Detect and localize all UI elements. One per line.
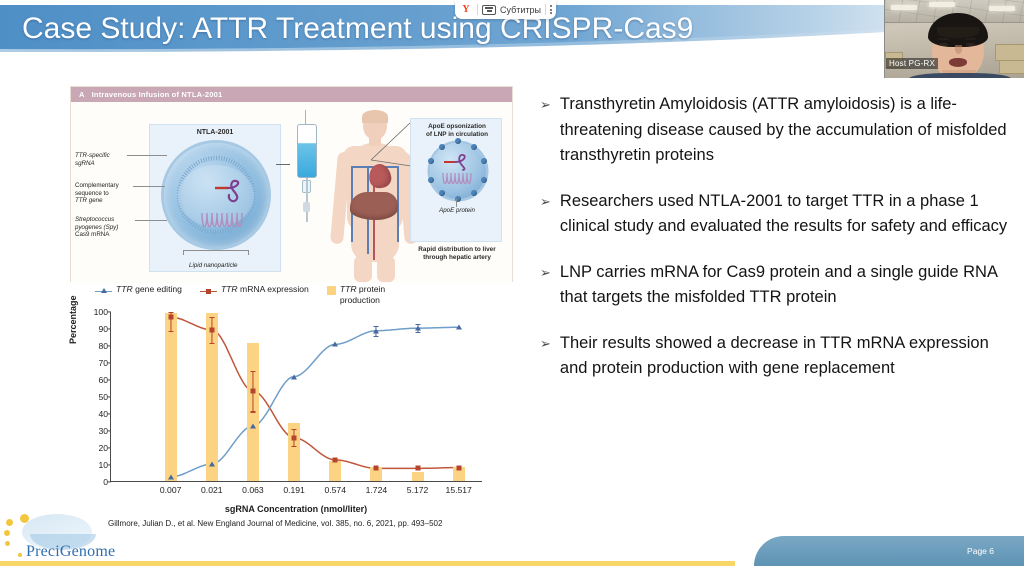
data-point <box>168 474 174 479</box>
apoe-protein-dot <box>481 158 487 164</box>
y-axis-tick <box>108 413 112 414</box>
eyebrow <box>938 38 949 40</box>
page-title: Case Study: ATTR Treatment using CRISPR-… <box>22 11 862 47</box>
bracket-tick <box>183 250 184 255</box>
label-cas9-mrna: Streptococcuspyogenes (Spy)Cas9 mRNA <box>75 216 137 239</box>
page-number: Page 6 <box>967 546 994 556</box>
error-bar-cap <box>415 332 420 333</box>
legend-label-mrna-expression: TTR mRNA expression <box>221 284 309 295</box>
toolbar-divider <box>545 4 546 15</box>
x-axis-tick-label: 0.574 <box>324 481 346 495</box>
x-axis-tick-label: 0.063 <box>242 481 264 495</box>
apoe-protein-dot <box>455 138 461 144</box>
error-bar-cap <box>250 371 255 372</box>
data-point <box>168 315 173 320</box>
x-axis-tick-label: 1.724 <box>366 481 388 495</box>
arrow-bullet-icon: ➢ <box>540 189 551 214</box>
data-point <box>456 325 462 330</box>
legend-label-gene-editing: TTR gene editing <box>116 284 182 295</box>
apoe-box-title: ApoE opsonizationof LNP in circulation <box>413 123 501 139</box>
arrow-bullet-icon: ➢ <box>540 92 551 117</box>
webcam-thumbnail[interactable]: Host PG-RX <box>884 0 1024 78</box>
logo-dot <box>5 541 10 546</box>
apoe-protein-dot <box>439 144 445 150</box>
error-bar-cap <box>374 326 379 327</box>
legend-label-protein-production: TTR proteinproduction <box>340 284 385 305</box>
x-axis-tick-label: 0.191 <box>283 481 305 495</box>
chart-x-axis-title: sgRNA Concentration (nmol/liter) <box>110 504 482 514</box>
bullet-text: Their results showed a decrease in TTR m… <box>560 331 1018 382</box>
chart-legend: TTR gene editing TTR mRNA expression TTR… <box>95 284 515 310</box>
bullet-text: Researchers used NTLA-2001 to target TTR… <box>560 189 1018 240</box>
data-point <box>373 328 379 333</box>
leader-line <box>133 186 165 187</box>
nose <box>955 45 962 54</box>
blue-line-marker-icon <box>95 286 112 296</box>
red-line-marker-icon <box>200 286 217 296</box>
apoe-protein-dot <box>439 190 445 196</box>
error-bar-cap <box>292 446 297 447</box>
legend-item-mrna-expression: TTR mRNA expression <box>200 284 309 296</box>
data-point <box>209 327 214 332</box>
leader-line <box>135 220 167 221</box>
apoe-protein-dot <box>471 144 477 150</box>
list-item: ➢ Transthyretin Amyloidosis (ATTR amyloi… <box>540 92 1018 169</box>
bullet-list: ➢ Transthyretin Amyloidosis (ATTR amyloi… <box>540 92 1018 382</box>
bullet-text: Transthyretin Amyloidosis (ATTR amyloido… <box>560 92 1018 169</box>
figure-panel-header: A Intravenous Infusion of NTLA-2001 <box>71 87 512 102</box>
data-point <box>415 326 421 331</box>
label-rapid-distribution: Rapid distribution to liverthrough hepat… <box>407 246 507 263</box>
slide-footer: Page 6 <box>0 548 1024 566</box>
yellow-square-icon <box>327 286 336 295</box>
legend-item-protein-production: TTR proteinproduction <box>327 284 385 305</box>
dose-response-chart: TTR gene editing TTR mRNA expression TTR… <box>70 282 515 532</box>
error-bar-cap <box>374 336 379 337</box>
cardboard-box <box>999 60 1024 74</box>
data-point <box>333 457 338 462</box>
error-bar-cap <box>168 312 173 313</box>
liver <box>350 192 398 220</box>
logo-dot <box>18 553 22 557</box>
error-bar-cap <box>250 411 255 412</box>
closed-caption-icon[interactable] <box>482 5 496 15</box>
logo-dot <box>20 514 29 523</box>
logo-dot <box>6 519 13 526</box>
data-point <box>291 374 297 379</box>
chart-citation: Gillmore, Julian D., et al. New England … <box>108 518 508 529</box>
subtitles-label[interactable]: Субтитры <box>500 5 541 15</box>
list-item: ➢ LNP carries mRNA for Cas9 protein and … <box>540 260 1018 311</box>
mouth <box>949 58 967 67</box>
sgrna-illustration <box>212 179 246 209</box>
label-complementary-sequence: Complementarysequence toTTR gene <box>75 182 135 205</box>
data-point <box>456 465 461 470</box>
lipid-nanoparticle-illustration <box>164 143 268 247</box>
y-axis-tick <box>108 328 112 329</box>
cardboard-box <box>995 44 1024 61</box>
lnp-title: NTLA-2001 <box>150 129 280 136</box>
apoe-protein-dot <box>428 177 434 183</box>
bullet-text: LNP carries mRNA for Cas9 protein and a … <box>560 260 1018 311</box>
y-axis-tick <box>108 362 112 363</box>
x-axis-tick-label: 0.007 <box>160 481 182 495</box>
figure-body: NTLA-2001 TTR-specificsgRNA <box>71 102 512 283</box>
list-item: ➢ Researchers used NTLA-2001 to target T… <box>540 189 1018 240</box>
video-overlay-toolbar[interactable]: Y Субтитры <box>455 0 556 19</box>
y-axis-tick <box>108 379 112 380</box>
label-ttr-specific-sgrna: TTR-specificsgRNA <box>75 152 133 167</box>
participant-name-label: Host PG-RX <box>886 58 938 69</box>
data-point <box>374 466 379 471</box>
error-bar-cap <box>292 429 297 430</box>
logo-wordmark: PreciGenome <box>26 543 115 561</box>
data-point <box>250 389 255 394</box>
presentation-slide: Case Study: ATTR Treatment using CRISPR-… <box>0 0 1024 566</box>
error-bar-cap <box>209 343 214 344</box>
data-point <box>292 435 297 440</box>
chart-y-axis-title: Percentage <box>68 295 78 344</box>
y-axis-tick <box>108 464 112 465</box>
protein-production-bar <box>165 313 177 481</box>
apoe-opsonization-box: ApoE opsonizationof LNP in circulation <box>410 118 502 242</box>
eyebrow <box>965 38 976 40</box>
x-axis-tick-label: 0.021 <box>201 481 223 495</box>
error-bar-cap <box>209 317 214 318</box>
apoe-protein-dot <box>481 177 487 183</box>
panel-title: Intravenous Infusion of NTLA-2001 <box>92 90 223 99</box>
protein-production-bar <box>412 472 424 481</box>
leader-line <box>127 155 167 156</box>
x-axis-tick-label: 5.172 <box>407 481 429 495</box>
logo-dot <box>4 530 10 536</box>
list-item: ➢ Their results showed a decrease in TTR… <box>540 331 1018 382</box>
data-point <box>415 466 420 471</box>
x-axis-tick-label: 15.517 <box>446 481 472 495</box>
y-axis-tick <box>108 396 112 397</box>
yandex-logo-icon[interactable]: Y <box>459 3 473 17</box>
bracket-line <box>183 250 249 251</box>
y-axis-tick <box>108 311 112 312</box>
apoe-protein-dot <box>428 158 434 164</box>
chart-plot-area: 01020304050607080901000.0070.0210.0630.1… <box>110 312 482 482</box>
apoe-protein-dot <box>471 190 477 196</box>
arrow-bullet-icon: ➢ <box>540 331 551 356</box>
arrow-bullet-icon: ➢ <box>540 260 551 285</box>
legend-item-gene-editing: TTR gene editing <box>95 284 182 296</box>
y-axis-tick <box>108 430 112 431</box>
data-point <box>332 342 338 347</box>
data-point <box>250 423 256 428</box>
toolbar-divider <box>477 4 478 15</box>
shirt <box>909 73 1011 78</box>
panel-letter: A <box>79 90 85 99</box>
data-point <box>209 462 215 467</box>
figure-panel-a: A Intravenous Infusion of NTLA-2001 NTLA… <box>70 86 513 282</box>
bracket-tick <box>248 250 249 255</box>
error-bar-cap <box>168 331 173 332</box>
protein-production-bar <box>329 461 341 481</box>
callout-lines <box>371 120 415 172</box>
y-axis-tick <box>108 481 112 482</box>
y-axis-tick <box>108 447 112 448</box>
eye <box>939 43 948 46</box>
eye <box>966 43 975 46</box>
connector-line <box>276 164 290 165</box>
label-apoe-protein: ApoE protein <box>411 207 503 214</box>
y-axis-tick <box>108 345 112 346</box>
kebab-menu-icon[interactable] <box>550 5 552 14</box>
precigenome-logo: PreciGenome <box>4 518 124 564</box>
leader-tick <box>456 199 457 207</box>
cas9-mrna-illustration <box>200 211 246 233</box>
label-lipid-nanoparticle: Lipid nanoparticle <box>189 262 238 269</box>
